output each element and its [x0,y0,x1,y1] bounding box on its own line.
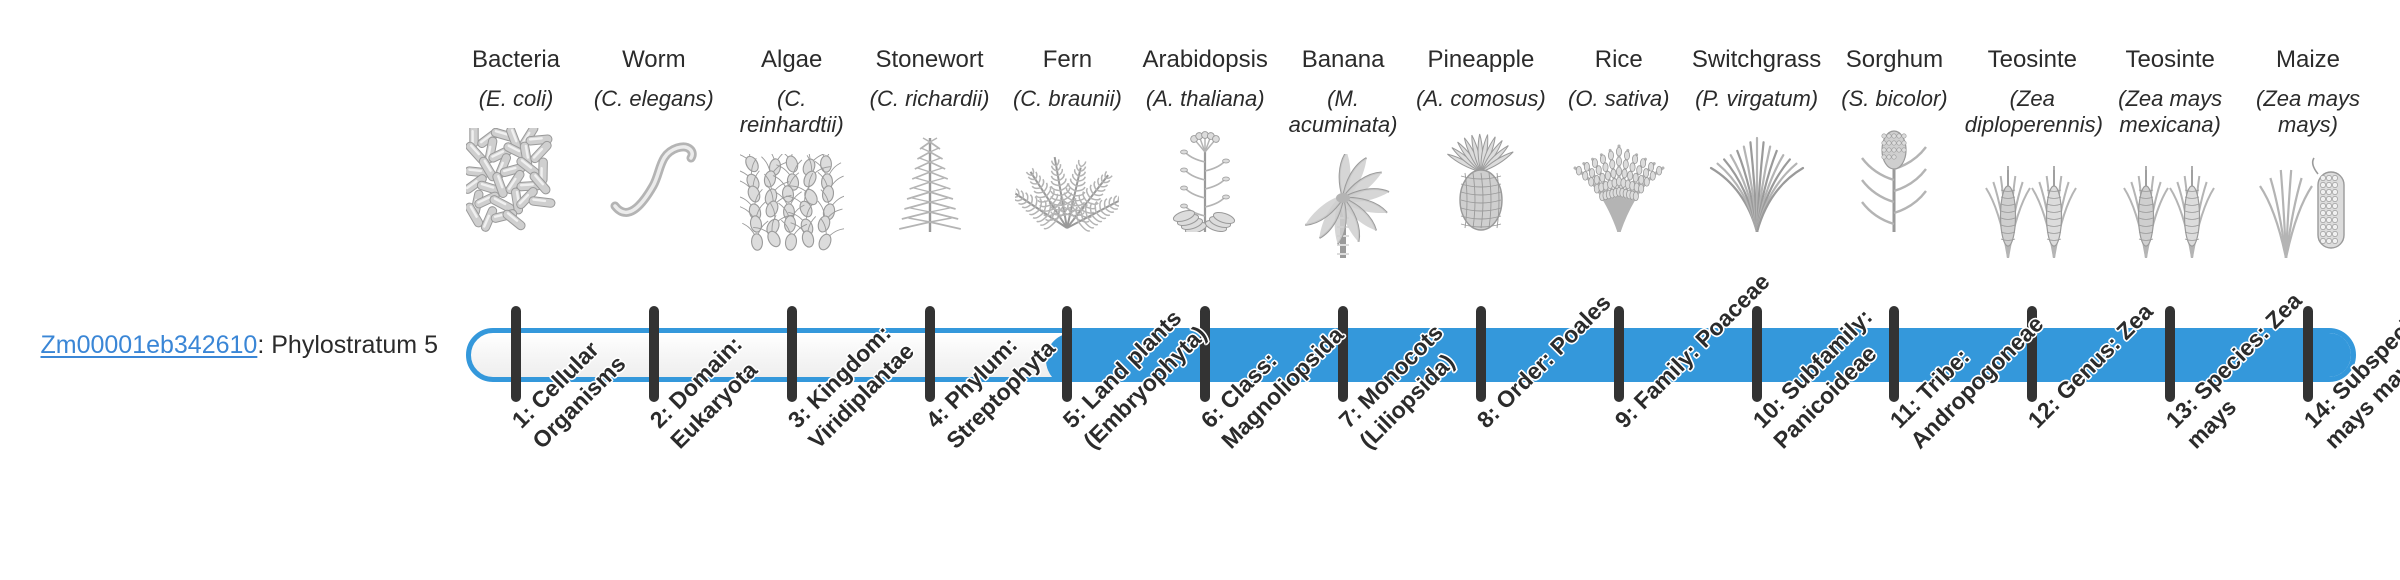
species-scientific-name: (E. coli) [449,86,584,112]
species-common-name: Maize [2241,46,2376,74]
fern-icon [1000,120,1135,232]
teosinte-diplo-icon [1965,146,2100,258]
species-column: Rice(O. sativa) [1551,46,1686,232]
species-common-name: Algae [724,46,859,74]
species-scientific-name: (A. thaliana) [1138,86,1273,112]
species-common-name: Pineapple [1413,46,1548,74]
gene-phylostratum-label: Zm00001eb342610: Phylostratum 5 [0,330,452,360]
species-scientific-name: (Zea mays mays) [2241,86,2376,138]
species-common-name: Switchgrass [1689,46,1824,74]
species-common-name: Teosinte [1965,46,2100,74]
species-column: Banana(M. acuminata) [1276,46,1411,258]
phylostratum-figure: Zm00001eb342610: Phylostratum 5 Bacteria… [0,0,2400,580]
species-scientific-name: (Zea mays mexicana) [2103,86,2238,138]
sorghum-icon [1827,120,1962,232]
species-scientific-name: (C. richardii) [862,86,997,112]
species-common-name: Stonewort [862,46,997,74]
species-column: Teosinte(Zea diploperennis) [1965,46,2100,258]
species-common-name: Banana [1276,46,1411,74]
species-column: Bacteria(E. coli) [449,46,584,232]
phylostratum-value-label: Phylostratum 5 [271,331,438,359]
taxonomy-label-row: 1: Cellular Organisms2: Domain: Eukaryot… [466,414,2356,580]
species-scientific-name: (C. elegans) [586,86,721,112]
species-common-name: Bacteria [449,46,584,74]
species-scientific-name: (M. acuminata) [1276,86,1411,138]
species-column: Fern(C. braunii) [1000,46,1135,232]
maize-icon [2241,146,2376,258]
rice-icon [1551,120,1686,232]
species-scientific-name: (S. bicolor) [1827,86,1962,112]
species-column: Algae(C. reinhardtii) [724,46,859,258]
bacteria-icon [449,120,584,232]
algae-icon [724,146,859,258]
worm-icon [586,120,721,232]
species-column: Pineapple(A. comosus) [1413,46,1548,232]
species-common-name: Arabidopsis [1138,46,1273,74]
species-common-name: Worm [586,46,721,74]
switchgrass-icon [1689,120,1824,232]
gene-id-link[interactable]: Zm00001eb342610 [40,331,257,359]
species-scientific-name: (P. virgatum) [1689,86,1824,112]
teosinte-mexicana-icon [2103,146,2238,258]
species-scientific-name: (C. reinhardtii) [724,86,859,138]
species-column: Arabidopsis(A. thaliana) [1138,46,1273,232]
species-scientific-name: (Zea diploperennis) [1965,86,2100,138]
species-scientific-name: (C. braunii) [1000,86,1135,112]
species-header-row: Bacteria(E. coli) [466,0,2356,310]
species-scientific-name: (O. sativa) [1551,86,1686,112]
species-scientific-name: (A. comosus) [1413,86,1548,112]
species-column: Maize(Zea mays mays) [2241,46,2376,258]
arabidopsis-icon [1138,120,1273,232]
species-column: Sorghum(S. bicolor) [1827,46,1962,232]
species-column: Stonewort(C. richardii) [862,46,997,232]
pineapple-icon [1413,120,1548,232]
species-common-name: Teosinte [2103,46,2238,74]
species-common-name: Fern [1000,46,1135,74]
species-column: Worm(C. elegans) [586,46,721,232]
species-common-name: Sorghum [1827,46,1962,74]
species-column: Teosinte(Zea mays mexicana) [2103,46,2238,258]
banana-icon [1276,146,1411,258]
species-column: Switchgrass(P. virgatum) [1689,46,1824,232]
stonewort-icon [862,120,997,232]
species-common-name: Rice [1551,46,1686,74]
gene-label-separator: : [257,331,271,359]
